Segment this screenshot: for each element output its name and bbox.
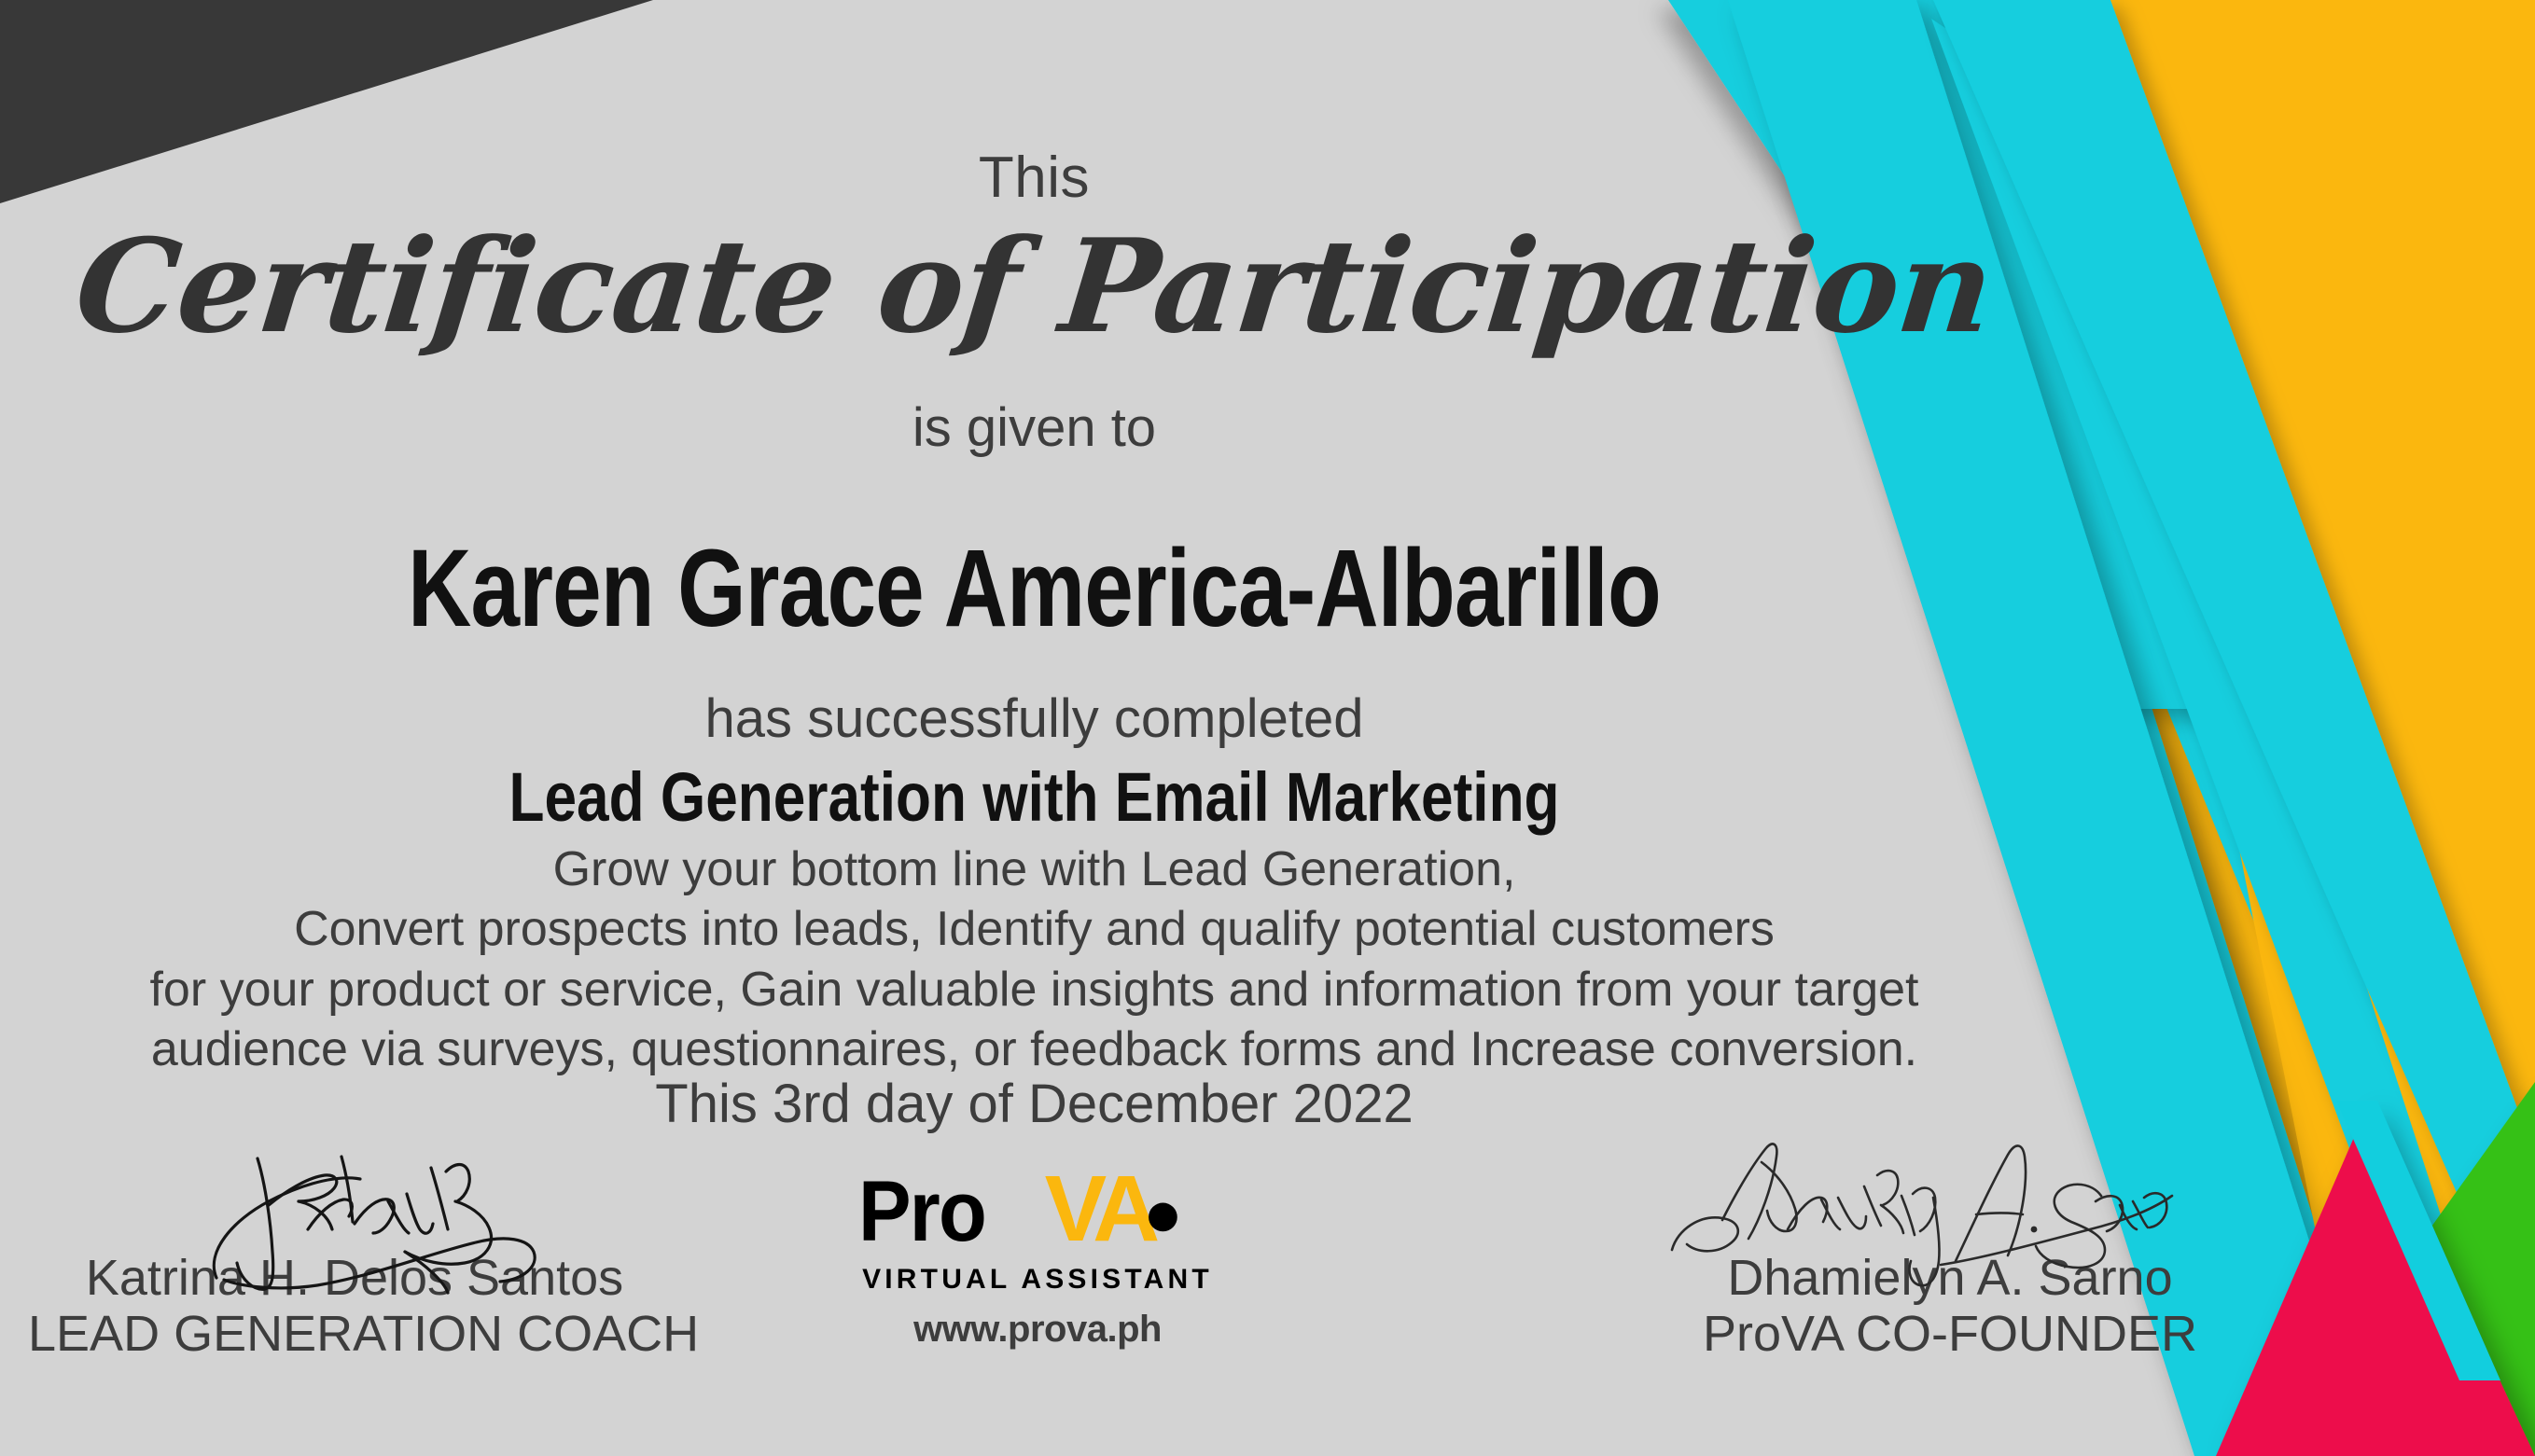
logo-text-pro: Pro xyxy=(858,1171,985,1259)
logo-text-va: VA xyxy=(1045,1171,1158,1260)
given-to-label: is given to xyxy=(0,401,2068,455)
recipient-name: Karen Grace America-Albarillo xyxy=(207,534,1862,644)
course-description-line: Convert prospects into leads, Identify a… xyxy=(0,899,2068,959)
course-title: Lead Generation with Email Marketing xyxy=(165,763,1902,832)
signature-block-left: Katrina H. Delos Santos LEAD GENERATION … xyxy=(28,1250,681,1363)
signature-block-right: Dhamielyn A. Sarno ProVA CO-FOUNDER xyxy=(1642,1250,2258,1363)
issue-date: This 3rd day of December 2022 xyxy=(0,1077,2068,1131)
signature-role-right: ProVA CO-FOUNDER xyxy=(1642,1306,2258,1362)
completion-label: has successfully completed xyxy=(0,692,2068,746)
signature-name-left: Katrina H. Delos Santos xyxy=(28,1250,681,1306)
course-description-line: Grow your bottom line with Lead Generati… xyxy=(0,839,2068,899)
logo-wordmark-icon: Pro VA xyxy=(851,1171,1224,1260)
logo-tagline: VIRTUAL ASSISTANT xyxy=(851,1264,1224,1296)
logo-url: www.prova.ph xyxy=(851,1309,1224,1351)
logo-wordmark: Pro VA xyxy=(851,1171,1224,1260)
prova-logo: Pro VA VIRTUAL ASSISTANT www.prova.ph xyxy=(851,1171,1224,1351)
intro-word: This xyxy=(0,149,2068,207)
signature-name-right: Dhamielyn A. Sarno xyxy=(1642,1250,2258,1306)
course-description: Grow your bottom line with Lead Generati… xyxy=(0,839,2068,1080)
certificate-page: This Certificate of Participation is giv… xyxy=(0,0,2535,1456)
certificate-title: Certificate of Participation xyxy=(0,222,2075,351)
signature-role-left: LEAD GENERATION COACH xyxy=(28,1306,681,1362)
logo-dot-icon xyxy=(1149,1203,1177,1232)
course-description-line: for your product or service, Gain valuab… xyxy=(0,960,2068,1019)
certificate-content: This Certificate of Participation is giv… xyxy=(0,0,2535,1456)
course-description-line: audience via surveys, questionnaires, or… xyxy=(0,1019,2068,1079)
